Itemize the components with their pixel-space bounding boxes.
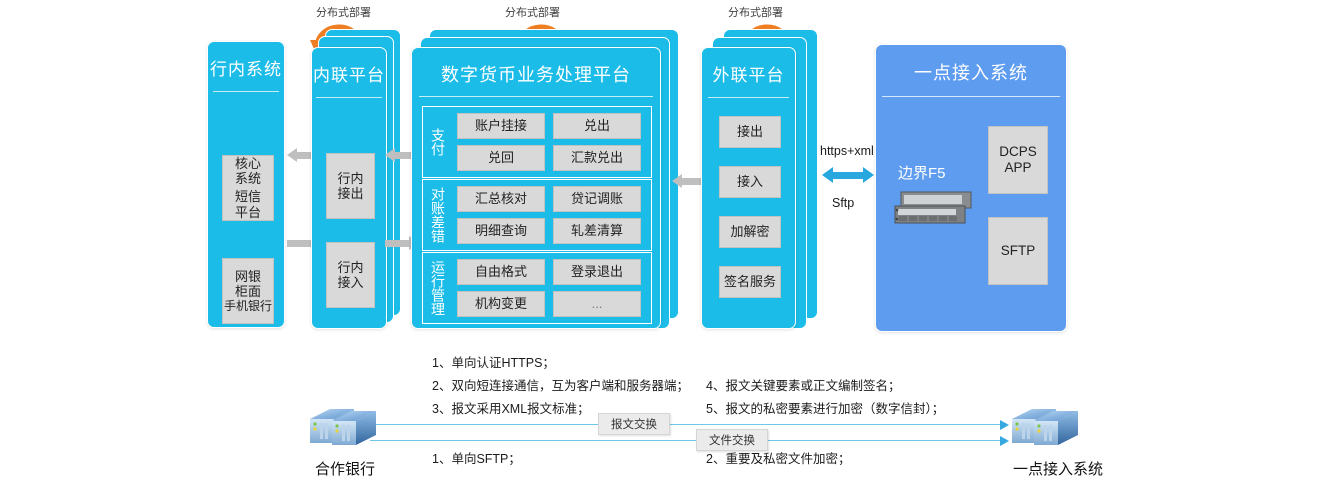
panel-internal-system: 行内系统 核心 系统 短信 平台 网银 柜面 手机银行	[207, 41, 285, 328]
grey-box-credit-adjust: 贷记调账	[553, 186, 641, 212]
grey-box-core-system: 核心 系统 短信 平台	[222, 155, 274, 221]
grey-box-account-link: 账户挂接	[457, 113, 545, 139]
group-label-reconciliation: 对账差错	[425, 180, 451, 250]
box-line: 网银	[235, 269, 261, 284]
panel-dcep-platform: 数字货币业务处理平台 支付 账户挂接 兑出 兑回 汇款兑出 对账差错 汇总核对 …	[411, 47, 661, 329]
group-label-payment: 支付	[425, 107, 451, 177]
title-divider	[708, 97, 790, 98]
grey-box-ext-in: 接入	[719, 166, 781, 198]
panel-title-external-platform: 外联平台	[702, 61, 795, 86]
box-line: 平台	[235, 205, 261, 220]
title-divider	[316, 97, 381, 98]
group-frame-reconciliation: 对账差错 汇总核对 贷记调账 明细查询 轧差清算	[422, 179, 652, 251]
node-label-access-system: 一点接入系统	[998, 458, 1118, 479]
flow-line-file-exchange	[370, 440, 1002, 441]
grey-box-netting-settle: 轧差清算	[553, 218, 641, 244]
grey-box-signature-service: 签名服务	[719, 266, 781, 298]
network-switch-icon	[893, 190, 979, 232]
grey-box-exchange-back: 兑回	[457, 145, 545, 171]
f5-boundary-label: 边界F5	[898, 162, 946, 183]
panel-title-dcep-platform: 数字货币业务处理平台	[412, 61, 660, 87]
deploy-caption-intranet: 分布式部署	[316, 4, 371, 20]
group-label-operations: 运行管理	[425, 253, 451, 323]
group-frame-payment: 支付 账户挂接 兑出 兑回 汇款兑出	[422, 106, 652, 178]
footer-note-1: 1、单向认证HTTPS；	[432, 352, 555, 371]
panel-external-platform: 外联平台 接出 接入 加解密 签名服务	[701, 47, 796, 329]
grey-box-intranet-out: 行内 接出	[326, 153, 375, 219]
footer-note-5: 5、报文的私密要素进行加密（数字信封）；	[706, 398, 944, 417]
grey-box-ext-out: 接出	[719, 116, 781, 148]
box-line: APP	[1004, 160, 1031, 176]
group-frame-operations: 运行管理 自由格式 登录退出 机构变更 ...	[422, 252, 652, 324]
grey-box-free-format: 自由格式	[457, 259, 545, 285]
panel-title-access-system: 一点接入系统	[876, 59, 1066, 85]
node-label-partner-bank: 合作银行	[290, 458, 400, 479]
grey-box-exchange-out: 兑出	[553, 113, 641, 139]
panel-title-intranet-platform: 内联平台	[312, 61, 386, 86]
grey-box-sftp: SFTP	[988, 217, 1048, 285]
connector-label-sftp: Sftp	[832, 196, 854, 210]
grey-box-detail-query: 明细查询	[457, 218, 545, 244]
footer-note-2: 2、双向短连接通信，互为客户端和服务器端；	[432, 375, 689, 394]
flow-tag-message-exchange: 报文交换	[598, 413, 670, 435]
grey-box-summary-check: 汇总核对	[457, 186, 545, 212]
footer-note-4: 4、报文关键要素或正文编制签名；	[706, 375, 900, 394]
title-divider	[213, 91, 280, 92]
connector-label-https-xml: https+xml	[820, 144, 874, 158]
panel-intranet-platform: 内联平台 行内 接出 行内 接入	[311, 47, 387, 329]
grey-box-org-change: 机构变更	[457, 291, 545, 317]
flow-line-message-exchange	[370, 424, 1002, 425]
grey-box-intranet-in: 行内 接入	[326, 242, 375, 308]
box-line: 接入	[337, 275, 363, 290]
title-divider	[419, 96, 652, 97]
box-line: 手机银行	[224, 299, 272, 313]
panel-title-internal-system: 行内系统	[208, 55, 284, 80]
box-line: 接出	[337, 186, 363, 201]
title-divider	[882, 96, 1061, 97]
footer-bottom-note-right: 2、重要及私密文件加密；	[706, 448, 850, 467]
grey-box-dcps-app: DCPS APP	[988, 126, 1048, 194]
box-line: 行内	[337, 171, 363, 186]
grey-box-login-logout: 登录退出	[553, 259, 641, 285]
box-line: 柜面	[235, 284, 261, 299]
server-icon-partner-bank	[300, 405, 390, 450]
deploy-caption-dcep: 分布式部署	[505, 4, 560, 20]
grey-box-encrypt-decrypt: 加解密	[719, 216, 781, 248]
box-line: 核心	[235, 156, 261, 171]
panel-access-system: 一点接入系统 边界F5 DCPS APP SFTP	[875, 44, 1067, 332]
architecture-diagram: 分布式部署 分布式部署 分布式部署 行内系统 核心 系统 短信 平台 网银 柜面…	[0, 0, 1333, 483]
deploy-caption-external: 分布式部署	[728, 4, 783, 20]
footer-note-3: 3、报文采用XML报文标准；	[432, 398, 590, 417]
box-line: 行内	[337, 260, 363, 275]
box-line: 系统	[235, 171, 261, 186]
arrow-external-access-bidirectional	[822, 167, 874, 183]
grey-box-remit-out: 汇款兑出	[553, 145, 641, 171]
box-line: 短信	[235, 189, 261, 204]
grey-box-more: ...	[553, 291, 641, 317]
server-icon-access-system	[1002, 405, 1092, 450]
footer-bottom-note-left: 1、单向SFTP；	[432, 448, 521, 467]
grey-box-ebank-channels: 网银 柜面 手机银行	[222, 258, 274, 324]
box-line: DCPS	[999, 144, 1037, 160]
